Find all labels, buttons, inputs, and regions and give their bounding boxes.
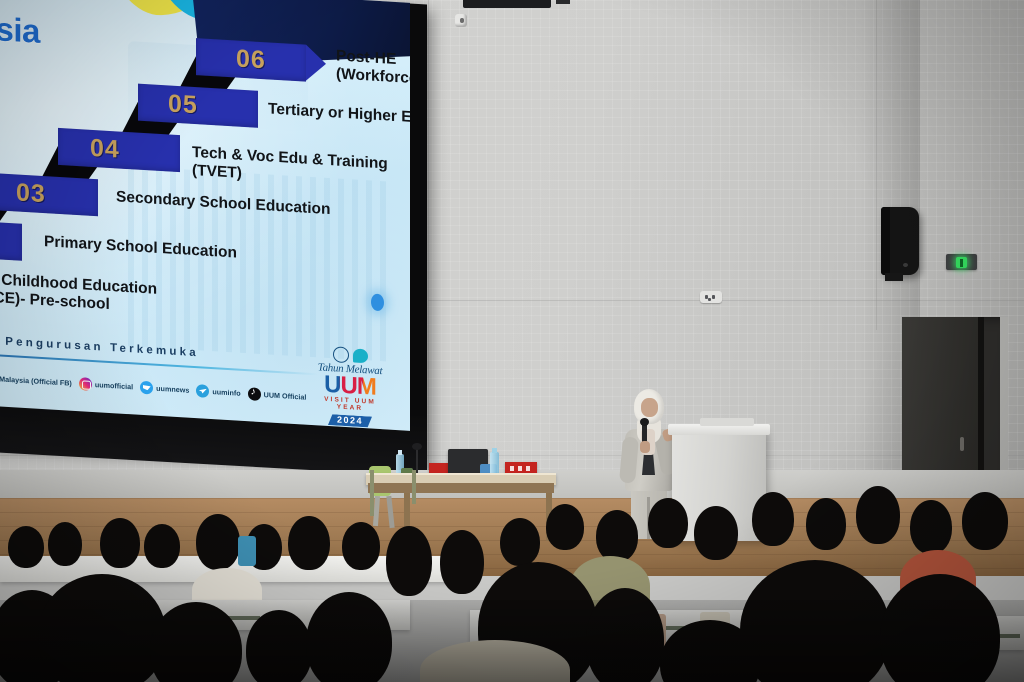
presentation-slide: ion in ysia 06 Post-HE (Workforce) 05 Te…	[0, 0, 410, 431]
audience-head	[962, 492, 1008, 550]
wall-speaker-icon	[881, 207, 919, 275]
podium-ledge	[700, 418, 754, 426]
tiktok-icon	[248, 387, 261, 401]
instagram-icon	[79, 377, 92, 391]
uum-year: 2024	[328, 414, 372, 428]
lecture-hall-photo: ion in ysia 06 Post-HE (Workforce) 05 Te…	[0, 0, 1024, 682]
audience-head	[342, 522, 380, 570]
support-pole	[370, 470, 374, 516]
slide-step-03: 03 Secondary School Education	[0, 172, 98, 217]
social-handle: UUM Official	[264, 390, 307, 402]
step-number: 03	[16, 178, 46, 209]
ceiling-mount-icon	[556, 0, 570, 4]
audience-head	[856, 486, 900, 544]
speaker-bracket	[885, 273, 903, 281]
audience-head	[246, 610, 312, 682]
presenter-hand-left	[640, 441, 650, 453]
wall-seam	[428, 300, 1024, 301]
audience-head	[440, 530, 484, 594]
audience-head	[740, 560, 890, 682]
audience-head	[596, 510, 638, 562]
audience-head	[306, 592, 392, 682]
step-bar	[0, 172, 98, 217]
slide-step-05: 05 Tertiary or Higher Ed	[138, 84, 258, 128]
audience-head	[910, 500, 952, 554]
audience-head	[48, 522, 82, 566]
step-number: 06	[236, 44, 266, 75]
twitter-icon	[140, 381, 153, 395]
thermos-bottle	[238, 536, 256, 566]
audience-head	[648, 498, 688, 548]
audience-head	[288, 516, 330, 570]
audience-head	[144, 524, 180, 568]
support-pole	[412, 470, 416, 504]
audience-head	[100, 518, 140, 568]
slide-bullet-dot	[371, 294, 384, 312]
social-handle: uumnews	[156, 384, 189, 395]
step-arrow-icon	[306, 45, 326, 82]
door-handle-icon[interactable]	[960, 437, 964, 451]
wall-sensor-icon	[455, 14, 467, 27]
audience-head	[546, 504, 584, 550]
social-telegram: uuminfo	[196, 384, 240, 400]
audience-head	[500, 518, 540, 566]
exit-sign-icon	[946, 254, 977, 270]
ceiling-projector-icon	[463, 0, 551, 8]
telegram-icon	[196, 384, 209, 398]
audience-head	[386, 526, 432, 596]
audience-head	[586, 588, 664, 682]
audience-head	[694, 506, 738, 560]
social-handle: uuminfo	[212, 387, 240, 398]
step-label: Post-HE (Workforce)	[336, 47, 410, 90]
power-outlet-icon	[700, 291, 722, 303]
audience-head	[196, 514, 240, 570]
slide-step-04: 04 Tech & Voc Edu & Training (TVET)	[58, 128, 180, 172]
slide-step-06: 06 Post-HE (Workforce)	[196, 38, 306, 82]
audience-head	[8, 526, 44, 568]
step-bar	[138, 84, 258, 128]
presenter-face	[641, 398, 658, 417]
audience-head	[38, 574, 166, 682]
social-handle: uumofficial	[95, 380, 133, 391]
audience-head	[880, 574, 1000, 682]
audience	[0, 470, 1024, 682]
step-number: 05	[168, 89, 198, 120]
audience-head	[752, 492, 794, 546]
step-number: 04	[90, 134, 120, 165]
audience-head	[806, 498, 846, 550]
uum-logo: Tahun Melawat UUM VISIT UUM YEAR 2024	[313, 345, 387, 405]
